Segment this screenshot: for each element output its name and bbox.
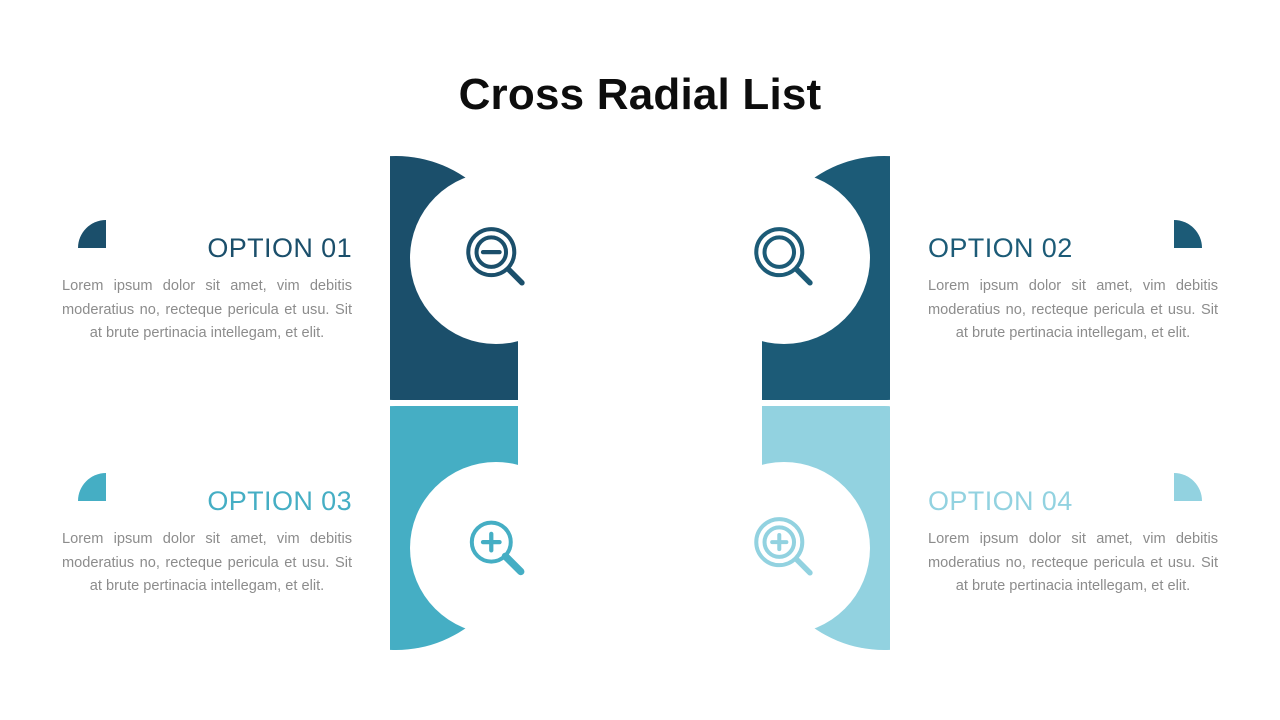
page-title: Cross Radial List [0,71,1280,119]
option-01-heading-row: OPTION 01 [62,216,352,262]
option-02-title: OPTION 02 [928,234,1073,262]
pin-option-01[interactable] [390,156,582,400]
pin-option-02[interactable] [698,156,890,400]
slide-canvas: Cross Radial List [0,0,1280,720]
icon-circle-option-04 [698,462,870,634]
option-04-description: Lorem ipsum dolor sit amet, vim debitis … [928,528,1218,599]
pin-option-04[interactable] [698,406,890,650]
option-04-title: OPTION 04 [928,487,1073,515]
option-block-02: OPTION 02 Lorem ipsum dolor sit amet, vi… [928,216,1218,361]
icon-circle-option-02 [698,172,870,344]
quarter-circle-decoration-icon [78,220,106,248]
option-block-03: OPTION 03 Lorem ipsum dolor sit amet, vi… [62,469,352,614]
quarter-circle-decoration-icon [1174,473,1202,501]
quarter-circle-decoration-icon [1174,220,1202,248]
option-03-description: Lorem ipsum dolor sit amet, vim debitis … [62,528,352,599]
option-03-title: OPTION 03 [207,487,352,515]
icon-circle-option-03 [410,462,582,634]
option-01-description: Lorem ipsum dolor sit amet, vim debitis … [62,275,352,346]
icon-circle-option-01 [410,172,582,344]
option-block-01: OPTION 01 Lorem ipsum dolor sit amet, vi… [62,216,352,361]
option-02-heading-row: OPTION 02 [928,216,1218,262]
quarter-circle-decoration-icon [78,473,106,501]
cross-radial-diagram [390,148,890,658]
option-02-description: Lorem ipsum dolor sit amet, vim debitis … [928,275,1218,346]
option-01-title: OPTION 01 [207,234,352,262]
option-03-heading-row: OPTION 03 [62,469,352,515]
option-block-04: OPTION 04 Lorem ipsum dolor sit amet, vi… [928,469,1218,614]
option-04-heading-row: OPTION 04 [928,469,1218,515]
pin-option-03[interactable] [390,406,582,650]
